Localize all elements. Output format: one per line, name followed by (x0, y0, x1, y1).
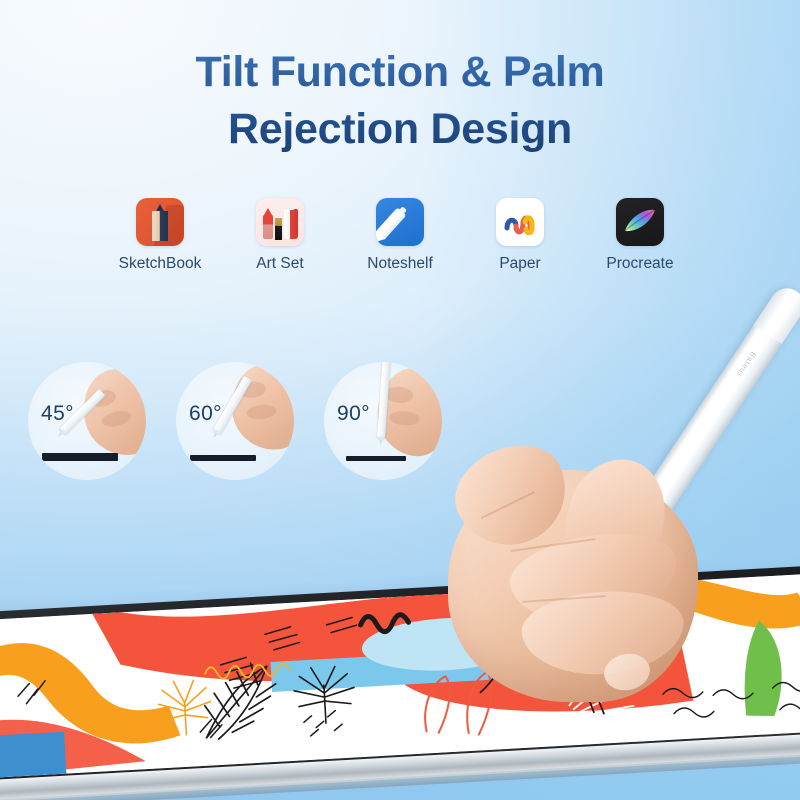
sketchbook-app-icon (136, 198, 184, 246)
app-item-sketchbook: SketchBook (128, 198, 192, 273)
tilt-demo-60: 60° (176, 362, 294, 480)
title-line-1: Tilt Function & Palm (196, 48, 605, 96)
stroke-width-bar (190, 455, 256, 462)
app-item-artset: Art Set (248, 198, 312, 273)
app-label: Noteshelf (367, 255, 432, 273)
hand-holding-stylus (414, 432, 754, 732)
title-line-2: Rejection Design (0, 101, 800, 158)
tilt-demo-45: 45° (28, 362, 146, 480)
tilt-angle-label: 45° (41, 402, 74, 426)
tilt-angle-label: 60° (189, 402, 222, 426)
app-label: Art Set (256, 255, 303, 273)
noteshelf-app-icon (376, 198, 424, 246)
hand-illustration (228, 362, 294, 454)
product-marketing-image: Tilt Function & Palm Rejection Design Sk… (0, 0, 800, 800)
stroke-width-bar (42, 453, 118, 461)
artset-app-icon (256, 198, 304, 246)
app-item-noteshelf: Noteshelf (368, 198, 432, 273)
page-title: Tilt Function & Palm Rejection Design (0, 44, 800, 158)
app-label: SketchBook (119, 255, 202, 273)
